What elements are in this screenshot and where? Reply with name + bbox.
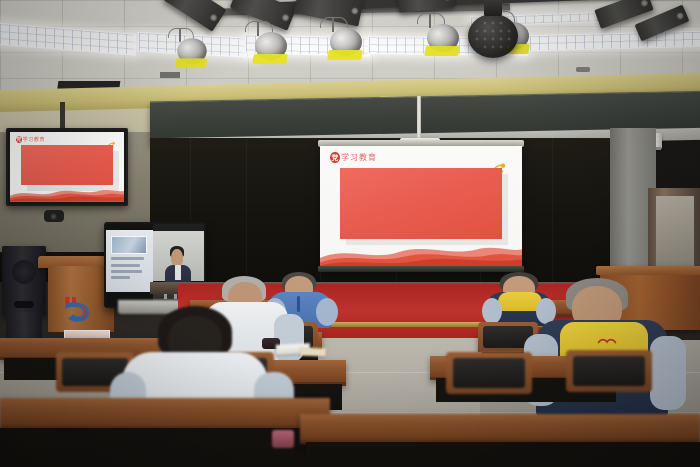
- speaker-stand: [6, 312, 42, 340]
- remote-speaker-head: [171, 249, 182, 267]
- slide-header: 党 学习教育: [330, 152, 377, 163]
- dome-effect-light: [468, 14, 518, 58]
- party-badge-icon: 党: [330, 152, 340, 163]
- ceiling-vent-small: [160, 72, 180, 78]
- chair: [566, 350, 652, 392]
- vest-logo-icon: [596, 336, 618, 348]
- tv-slide: 党 学习教育: [10, 132, 124, 202]
- slide-text-block: [353, 178, 489, 220]
- tv-slide-header: 党 学习教育: [16, 136, 45, 143]
- wall-mounted-tv: 党 学习教育: [6, 128, 128, 206]
- projection-screen-weight-bar: [318, 266, 524, 272]
- slide-wave-decoration: [320, 239, 522, 268]
- party-badge-icon: 党: [16, 136, 22, 143]
- shared-slide-image: [111, 236, 147, 254]
- slide-header-text: 学习教育: [341, 152, 377, 163]
- slide-body: [340, 168, 502, 239]
- shared-slide-pane: [106, 230, 153, 292]
- slide: 党 学习教育: [320, 146, 522, 268]
- corporate-logo-icon: [60, 294, 100, 324]
- paper: [300, 348, 326, 357]
- desk: [0, 398, 330, 430]
- projector-mount-pole: [417, 96, 421, 140]
- conference-room-photo: 党 学习教育: [0, 0, 700, 467]
- tv-slide-wave-decoration: [10, 185, 124, 202]
- chair: [446, 352, 532, 394]
- bag: [272, 430, 294, 448]
- ceiling-sensor: [576, 67, 590, 72]
- tv-slide-body: [21, 145, 112, 186]
- projection-screen: 党 学习教育: [320, 146, 522, 268]
- desk: [300, 414, 700, 444]
- conference-camera: [44, 210, 64, 222]
- tv-slide-header-text: 学习教育: [23, 136, 45, 143]
- speaker-driver-icon: [12, 260, 36, 284]
